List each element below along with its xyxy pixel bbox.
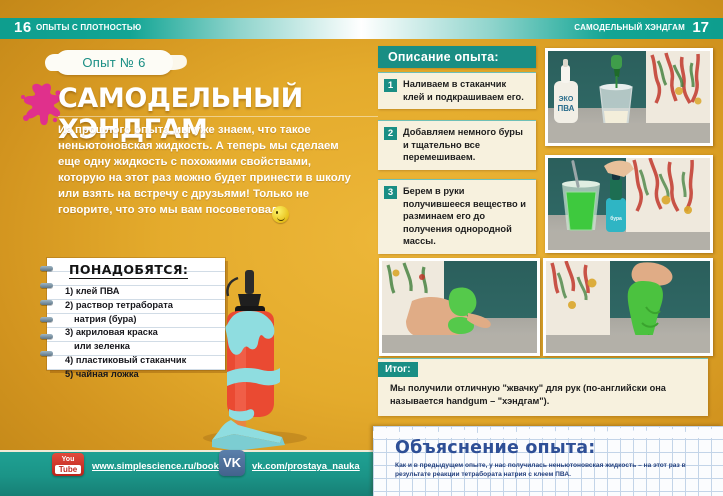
material-main: 2) раствор тетрабората: [65, 300, 173, 310]
material-main: 1) клей ПВА: [65, 286, 120, 296]
step-text: Наливаем в стаканчик клей и подкрашиваем…: [378, 73, 536, 109]
result-text: Мы получили отличную "жвачку" для рук (п…: [378, 377, 708, 416]
photo-step-4: [543, 258, 713, 356]
youtube-bottom-label: Tube: [55, 465, 81, 474]
svg-text:ПВА: ПВА: [558, 104, 575, 113]
description-panel: Описание опыта: 1 Наливаем в стаканчик к…: [378, 46, 536, 260]
notepad-rings: [40, 262, 52, 366]
photo-step-2: бура: [545, 155, 713, 253]
step-text: Добавляем немного буры и тщательно все п…: [378, 121, 536, 170]
description-step: 3 Берем в руки получившееся вещество и р…: [378, 179, 536, 254]
youtube-link[interactable]: www.simplescience.ru/book2/6/: [92, 461, 235, 472]
step-number: 2: [384, 127, 397, 140]
description-step: 1 Наливаем в стаканчик клей и подкрашива…: [378, 72, 536, 109]
step-number: 1: [384, 79, 397, 92]
intro-paragraph: Из прошлого опыта мы уже знаем, что тако…: [58, 122, 358, 218]
torn-paper-edge: [373, 426, 723, 438]
svg-text:ЭКО: ЭКО: [559, 96, 574, 103]
step-number: 3: [384, 186, 397, 199]
explanation-text: Как и в предыдущем опыте, у нас получила…: [395, 461, 695, 480]
explanation-panel: Объяснение опыта: Как и в предыдущем опы…: [373, 426, 723, 496]
page-number-right: 17: [692, 19, 709, 36]
result-heading: Итог:: [378, 362, 418, 377]
material-main: 4) пластиковый стаканчик: [65, 355, 186, 365]
photo-step-3: [379, 258, 540, 356]
experiment-ribbon-label: Опыт № 6: [82, 55, 145, 70]
step-text: Берем в руки получившееся вещество и раз…: [378, 180, 536, 254]
description-step: 2 Добавляем немного буры и тщательно все…: [378, 120, 536, 170]
vk-icon[interactable]: VK: [219, 450, 245, 476]
svg-text:бура: бура: [610, 215, 622, 222]
glue-bottle-illustration: [183, 268, 333, 453]
header-section-right: САМОДЕЛЬНЫЙ ХЭНДГАМ: [574, 23, 685, 32]
title-divider: [58, 116, 378, 117]
material-main: 5) чайная ложка: [65, 369, 139, 379]
header-section-left: ОПЫТЫ С ПЛОТНОСТЬЮ: [36, 23, 141, 32]
page-spread: 16 ОПЫТЫ С ПЛОТНОСТЬЮ САМОДЕЛЬНЫЙ ХЭНДГА…: [0, 0, 723, 496]
vk-label: VK: [223, 455, 241, 470]
result-box: Итог: Мы получили отличную "жвачку" для …: [378, 358, 708, 416]
smiley-icon: [272, 206, 289, 223]
materials-title: ПОНАДОБЯТСЯ:: [69, 262, 188, 279]
page-number-left: 16: [14, 19, 32, 36]
material-main: 3) акриловая краска: [65, 327, 158, 337]
experiment-ribbon: Опыт № 6: [55, 50, 173, 75]
youtube-top-label: You: [62, 456, 75, 463]
description-heading: Описание опыта:: [378, 46, 536, 68]
youtube-icon[interactable]: You Tube: [52, 453, 84, 476]
vk-link[interactable]: vk.com/prostaya_nauka: [252, 461, 360, 472]
photo-step-1: ЭКО ПВА: [545, 48, 713, 146]
explanation-title: Объяснение опыта:: [395, 438, 595, 458]
